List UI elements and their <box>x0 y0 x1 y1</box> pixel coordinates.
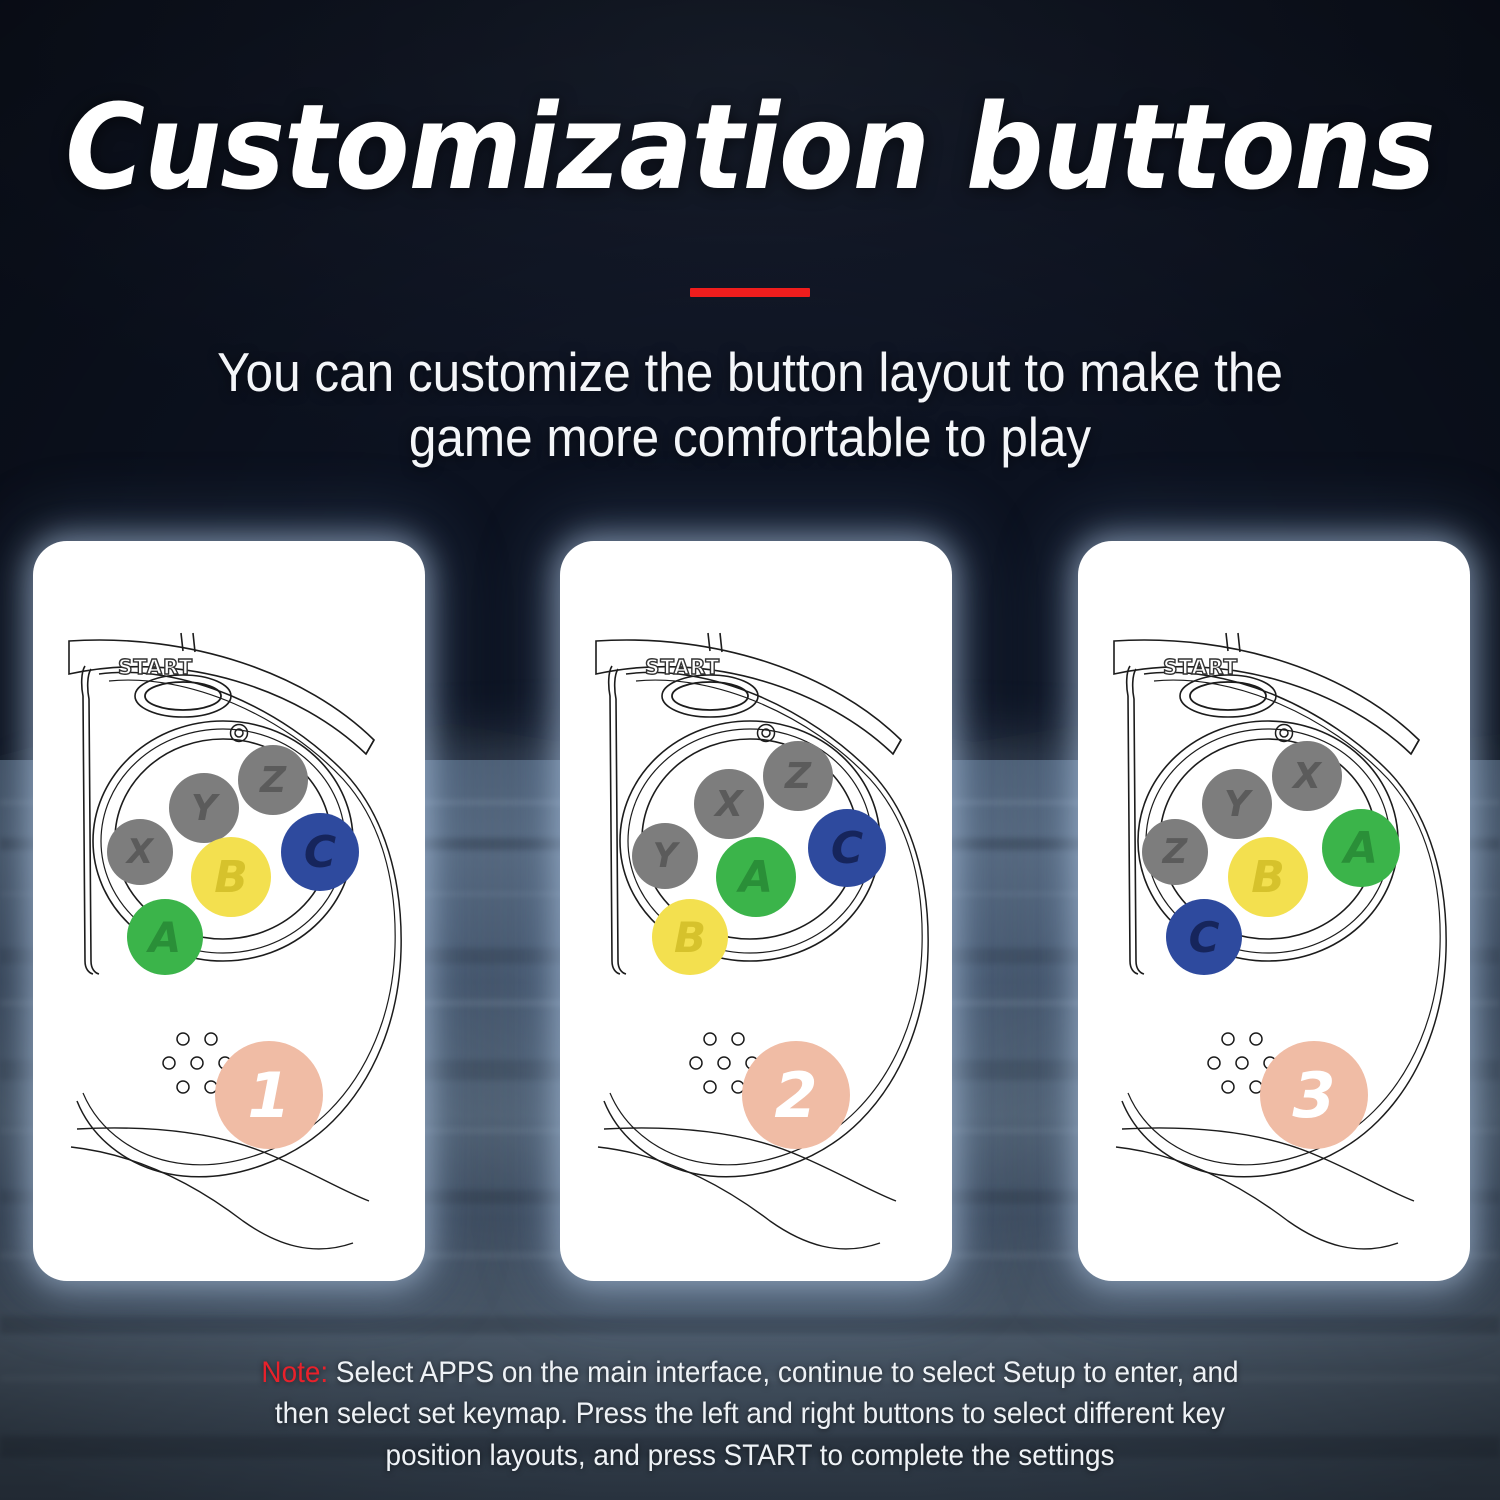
card-badge-3: 3 <box>1260 1041 1368 1149</box>
controller-button-x[interactable]: X <box>107 819 173 885</box>
controller-button-b[interactable]: B <box>191 837 271 917</box>
controller-button-b[interactable]: B <box>1228 837 1308 917</box>
title-divider <box>690 288 810 297</box>
note-keyword: Note: <box>261 1356 328 1389</box>
controller-button-a[interactable]: A <box>127 899 203 975</box>
controller-button-z[interactable]: Z <box>763 741 833 811</box>
note-text: Note: Select APPS on the main interface,… <box>252 1352 1247 1476</box>
controller-button-x[interactable]: X <box>694 769 764 839</box>
page-subtitle: You can customize the button layout to m… <box>179 340 1322 470</box>
controller-button-c[interactable]: C <box>808 809 886 887</box>
controller-button-c[interactable]: C <box>1166 899 1242 975</box>
controller-button-y[interactable]: Y <box>1202 769 1272 839</box>
card-badge-2: 2 <box>742 1041 850 1149</box>
layout-card-list: X Y Z C B A 1 <box>0 541 1500 1281</box>
card-badge-1: 1 <box>215 1041 323 1149</box>
note-body: Select APPS on the main interface, conti… <box>275 1356 1239 1472</box>
layout-card-3[interactable]: Z Y X A B C 3 <box>1078 541 1470 1281</box>
layout-card-1[interactable]: X Y Z C B A 1 <box>33 541 425 1281</box>
controller-button-c[interactable]: C <box>281 813 359 891</box>
page-title: Customization buttons <box>60 88 1440 206</box>
controller-button-a[interactable]: A <box>1322 809 1400 887</box>
controller-button-z[interactable]: Z <box>238 745 308 815</box>
controller-button-z[interactable]: Z <box>1142 819 1208 885</box>
controller-button-y[interactable]: Y <box>632 823 698 889</box>
controller-button-x[interactable]: X <box>1272 741 1342 811</box>
controller-button-y[interactable]: Y <box>169 773 239 843</box>
layout-card-2[interactable]: Y X Z C A B 2 <box>560 541 952 1281</box>
controller-button-b[interactable]: B <box>652 899 728 975</box>
controller-button-a[interactable]: A <box>716 837 796 917</box>
